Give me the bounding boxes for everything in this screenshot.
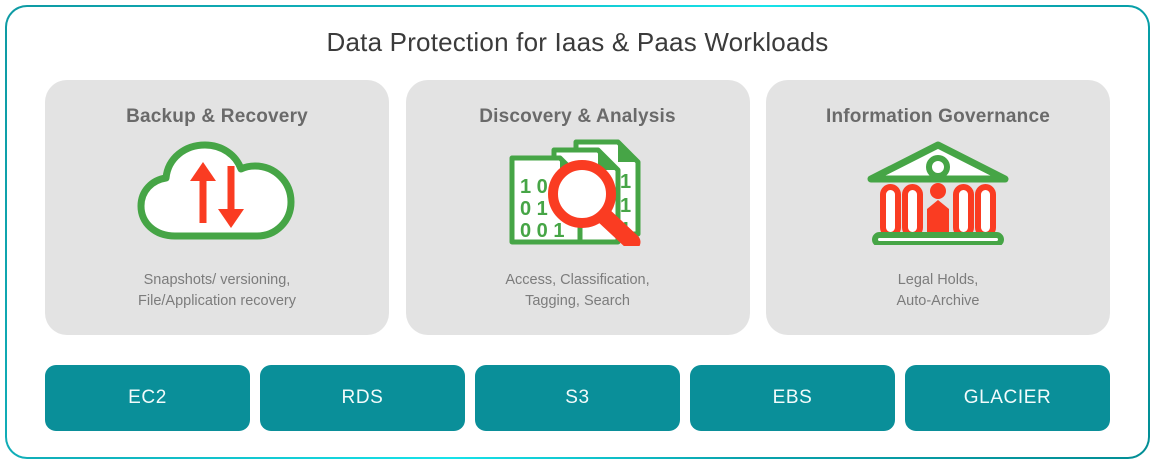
service-chip-ebs[interactable]: EBS (690, 365, 895, 431)
pillar-card-information-governance[interactable]: Information Governance (766, 80, 1110, 335)
pillar-caption: Legal Holds, Auto-Archive (766, 270, 1110, 314)
svg-text:1: 1 (620, 195, 631, 217)
pillar-panels: Backup & Recovery Snapshots/ versioning, (45, 80, 1110, 335)
page-title: Data Protection for Iaas & Paas Workload… (7, 27, 1148, 58)
pillar-caption: Snapshots/ versioning, File/Application … (45, 270, 389, 314)
service-chip-row: EC2 RDS S3 EBS GLACIER (45, 365, 1110, 431)
service-chip-label: EC2 (128, 387, 167, 409)
pillar-caption: Access, Classification, Tagging, Search (406, 270, 750, 314)
pillar-card-discovery-analysis[interactable]: Discovery & Analysis 1 (406, 80, 750, 335)
binary-row-2: 0 1 (520, 198, 548, 220)
courthouse-icon (863, 138, 1013, 246)
service-chip-label: RDS (342, 387, 384, 409)
service-chip-rds[interactable]: RDS (260, 365, 465, 431)
caption-line-2: Auto-Archive (766, 291, 1110, 313)
service-chip-label: GLACIER (964, 387, 1052, 409)
service-chip-label: S3 (565, 387, 589, 409)
caption-line-2: Tagging, Search (406, 291, 750, 313)
svg-text:1: 1 (620, 171, 631, 193)
service-chip-ec2[interactable]: EC2 (45, 365, 250, 431)
service-chip-glacier[interactable]: GLACIER (905, 365, 1110, 431)
caption-line-1: Legal Holds, (766, 270, 1110, 292)
caption-line-1: Access, Classification, (406, 270, 750, 292)
service-chip-s3[interactable]: S3 (475, 365, 680, 431)
documents-magnifier-icon: 1 0 0 1 0 0 1 1 1 1 (498, 138, 658, 246)
pillar-heading: Backup & Recovery (126, 106, 308, 128)
binary-row-1: 1 0 (520, 176, 548, 198)
infographic-body: Data Protection for Iaas & Paas Workload… (7, 7, 1148, 457)
infographic-frame: Data Protection for Iaas & Paas Workload… (5, 5, 1150, 459)
pillar-heading: Information Governance (826, 106, 1050, 128)
binary-row-3: 0 0 1 (520, 220, 564, 242)
caption-line-2: File/Application recovery (45, 291, 389, 313)
pillar-card-backup-recovery[interactable]: Backup & Recovery Snapshots/ versioning, (45, 80, 389, 335)
cloud-sync-icon (133, 138, 301, 246)
pillar-heading: Discovery & Analysis (479, 106, 676, 128)
service-chip-label: EBS (773, 387, 813, 409)
caption-line-1: Snapshots/ versioning, (45, 270, 389, 292)
